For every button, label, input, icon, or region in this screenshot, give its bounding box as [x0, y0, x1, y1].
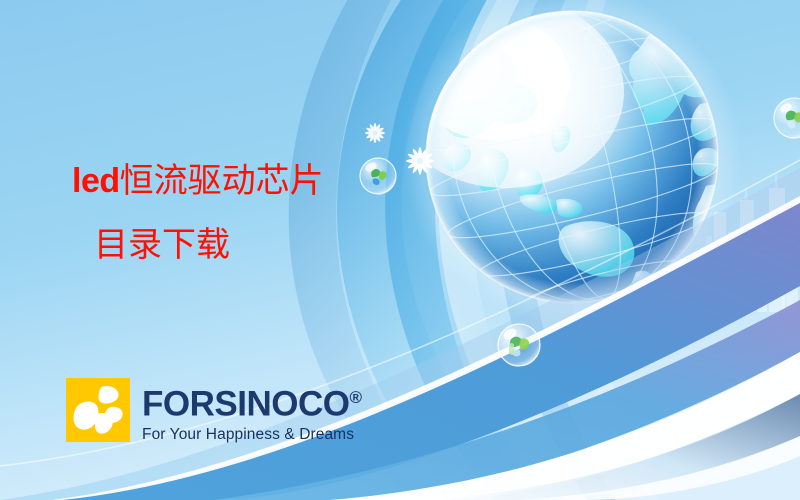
- brand-logo: FORSINOCO® For Your Happiness & Dreams: [66, 378, 362, 444]
- brand-wordmark: FORSINOCO®: [142, 380, 362, 423]
- brand-name: FORSINOCO: [142, 385, 349, 424]
- poster-canvas: led恒流驱动芯片 目录下载 FORSINOCO® For Your Happ: [0, 0, 800, 500]
- brand-text: FORSINOCO® For Your Happiness & Dreams: [142, 378, 362, 444]
- brand-tagline: For Your Happiness & Dreams: [142, 426, 362, 444]
- registered-mark: ®: [349, 388, 362, 407]
- bubble-lower-center: [498, 324, 540, 366]
- bubble-near-title: [360, 158, 396, 194]
- forsinoco-logo-mark-icon: [66, 378, 130, 442]
- bubble-right-edge: [774, 98, 800, 138]
